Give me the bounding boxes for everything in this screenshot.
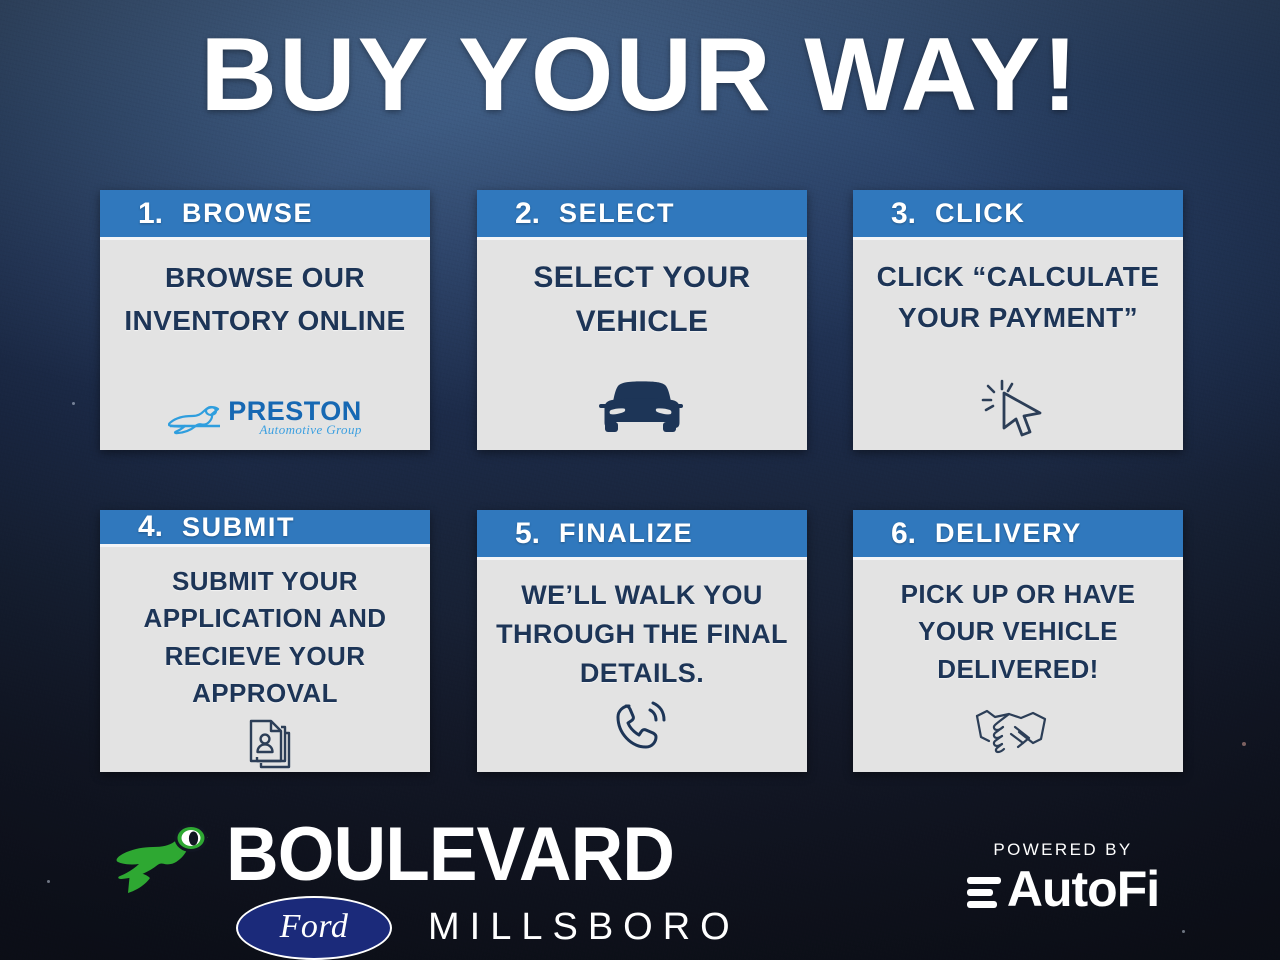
ford-wordmark: Ford	[280, 910, 349, 944]
infographic-canvas: BUY YOUR WAY! 1. BROWSE BROWSE OUR INVEN…	[0, 0, 1280, 960]
step-number: 3.	[891, 197, 935, 231]
powered-by-label: POWERED BY	[938, 840, 1188, 860]
step-card-select: 2. SELECT SELECT YOUR VEHICLE	[477, 190, 807, 450]
autofi-bars-icon	[967, 877, 1001, 908]
step-art	[114, 713, 416, 773]
boulevard-frog-logo-icon	[112, 820, 216, 912]
preston-logo: PRESTON Automotive Group	[168, 398, 362, 436]
step-name: CLICK	[935, 198, 1026, 229]
autofi-wordmark: AutoFi	[1007, 864, 1159, 914]
step-card-click: 3. CLICK CLICK “CALCULATE YOUR PAYMENT”	[853, 190, 1183, 450]
step-header: 1. BROWSE	[100, 190, 430, 240]
page-title: BUY YOUR WAY!	[0, 22, 1280, 128]
step-header: 2. SELECT	[477, 190, 807, 240]
phone-ringing-icon	[609, 700, 675, 760]
autofi-logo: AutoFi	[938, 864, 1188, 914]
step-card-delivery: 6. DELIVERY PICK UP OR HAVE YOUR VEHICLE…	[853, 510, 1183, 772]
ford-logo: Ford	[236, 896, 392, 960]
step-body: PICK UP OR HAVE YOUR VEHICLE DELIVERED!	[853, 560, 1183, 772]
step-card-browse: 1. BROWSE BROWSE OUR INVENTORY ONLINE PR…	[100, 190, 430, 450]
step-text: CLICK “CALCULATE YOUR PAYMENT”	[867, 256, 1169, 338]
step-number: 2.	[515, 197, 559, 231]
dealer-location: MILLSBORO	[428, 906, 740, 949]
preston-wordmark: PRESTON	[228, 398, 362, 425]
step-header: 4. SUBMIT	[100, 510, 430, 547]
car-front-icon	[599, 372, 685, 438]
dealer-brand-lockup: BOULEVARD Ford MILLSBORO	[112, 820, 740, 960]
step-number: 6.	[891, 517, 935, 551]
step-art: PRESTON Automotive Group	[114, 400, 416, 438]
step-number: 1.	[138, 197, 182, 231]
step-body: CLICK “CALCULATE YOUR PAYMENT”	[853, 240, 1183, 450]
preston-tagline: Automotive Group	[228, 423, 362, 436]
documents-person-icon	[235, 713, 295, 773]
step-art	[491, 700, 793, 760]
step-header: 5. FINALIZE	[477, 510, 807, 560]
handshake-icon	[971, 702, 1065, 760]
step-name: SELECT	[559, 198, 675, 229]
autofi-lockup: POWERED BY AutoFi	[938, 840, 1188, 914]
preston-frog-icon	[168, 402, 224, 436]
step-text: SUBMIT YOUR APPLICATION AND RECIEVE YOUR…	[114, 563, 416, 713]
step-name: BROWSE	[182, 198, 313, 229]
dealer-name: BOULEVARD	[226, 820, 719, 890]
step-name: DELIVERY	[935, 518, 1082, 549]
footer: BOULEVARD Ford MILLSBORO POWERED BY Auto…	[0, 812, 1280, 960]
step-body: BROWSE OUR INVENTORY ONLINE PRESTON Auto…	[100, 240, 430, 450]
step-text: BROWSE OUR INVENTORY ONLINE	[114, 256, 416, 343]
step-art	[491, 372, 793, 438]
mouse-cursor-click-icon	[980, 378, 1056, 438]
step-number: 5.	[515, 517, 559, 551]
step-text: WE’LL WALK YOU THROUGH THE FINAL DETAILS…	[491, 576, 793, 693]
step-text: PICK UP OR HAVE YOUR VEHICLE DELIVERED!	[867, 576, 1169, 688]
step-header: 6. DELIVERY	[853, 510, 1183, 560]
step-number: 4.	[138, 510, 182, 544]
step-body: WE’LL WALK YOU THROUGH THE FINAL DETAILS…	[477, 560, 807, 772]
step-card-submit: 4. SUBMIT SUBMIT YOUR APPLICATION AND RE…	[100, 510, 430, 772]
step-body: SUBMIT YOUR APPLICATION AND RECIEVE YOUR…	[100, 547, 430, 785]
step-art	[867, 378, 1169, 438]
step-art	[867, 702, 1169, 760]
background-speck	[1242, 742, 1246, 746]
background-speck	[72, 402, 75, 405]
step-name: SUBMIT	[182, 512, 295, 543]
step-text: SELECT YOUR VEHICLE	[491, 256, 793, 343]
step-body: SELECT YOUR VEHICLE	[477, 240, 807, 450]
step-header: 3. CLICK	[853, 190, 1183, 240]
step-name: FINALIZE	[559, 518, 693, 549]
step-card-finalize: 5. FINALIZE WE’LL WALK YOU THROUGH THE F…	[477, 510, 807, 772]
